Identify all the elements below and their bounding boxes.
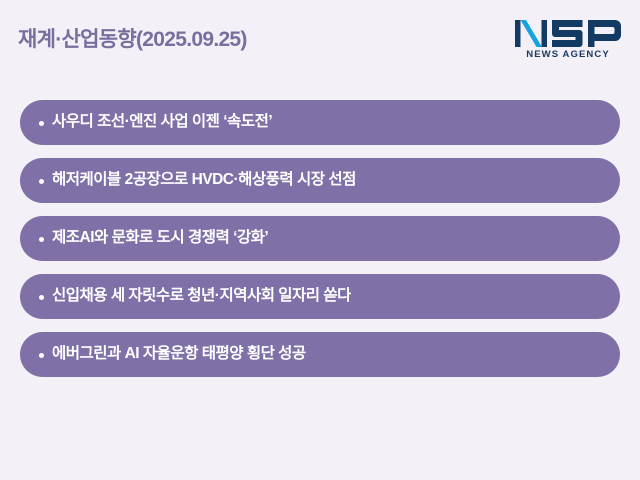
bullet-icon: [39, 121, 44, 126]
bullet-icon: [39, 179, 44, 184]
news-summary-slide: 재계·산업동향(2025.09.25) NEWS AGENCY 사우디 조선·엔…: [0, 0, 640, 480]
slide-header: 재계·산업동향(2025.09.25) NEWS AGENCY: [0, 0, 640, 90]
headline-item[interactable]: 사우디 조선·엔진 사업 이젠 ‘속도전’: [20, 100, 620, 145]
headline-item[interactable]: 제조AI와 문화로 도시 경쟁력 ‘강화’: [20, 216, 620, 261]
headline-text: 사우디 조선·엔진 사업 이젠 ‘속도전’: [52, 113, 272, 132]
headline-text: 신입채용 세 자릿수로 청년·지역사회 일자리 쏟다: [52, 287, 351, 306]
bullet-icon: [39, 237, 44, 242]
bullet-icon: [39, 353, 44, 358]
headline-list: 사우디 조선·엔진 사업 이젠 ‘속도전’ 해저케이블 2공장으로 HVDC·해…: [20, 100, 620, 377]
headline-item[interactable]: 해저케이블 2공장으로 HVDC·해상풍력 시장 선점: [20, 158, 620, 203]
bullet-icon: [39, 295, 44, 300]
headline-text: 제조AI와 문화로 도시 경쟁력 ‘강화’: [52, 229, 268, 248]
headline-item[interactable]: 신입채용 세 자릿수로 청년·지역사회 일자리 쏟다: [20, 274, 620, 319]
page-title: 재계·산업동향(2025.09.25): [18, 27, 247, 52]
headline-text: 에버그린과 AI 자율운항 태평양 횡단 성공: [52, 345, 306, 364]
nsp-logo-tagline: NEWS AGENCY: [526, 50, 610, 60]
nsp-logo-mark: [514, 18, 622, 49]
nsp-logo: NEWS AGENCY: [512, 18, 624, 66]
headline-text: 해저케이블 2공장으로 HVDC·해상풍력 시장 선점: [52, 171, 356, 190]
headline-item[interactable]: 에버그린과 AI 자율운항 태평양 횡단 성공: [20, 332, 620, 377]
